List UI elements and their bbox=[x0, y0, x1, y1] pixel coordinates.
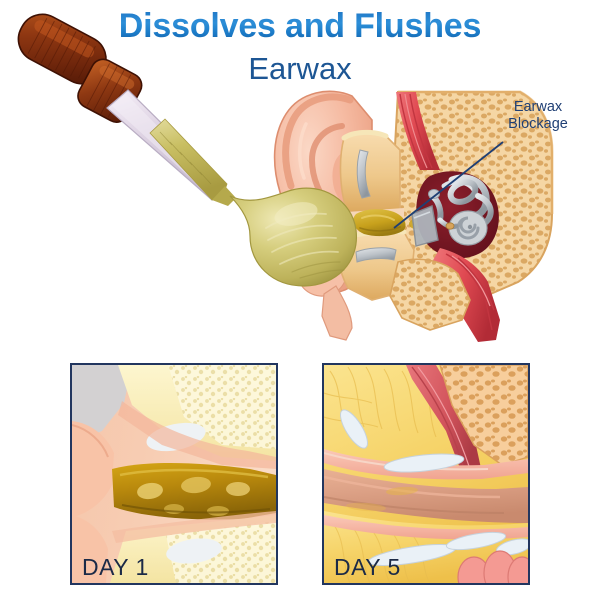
panel-day5: DAY 5 bbox=[322, 363, 530, 585]
infographic-canvas: Dissolves and Flushes Earwax Earwax Bloc… bbox=[0, 0, 600, 600]
page-subtitle: Earwax bbox=[0, 50, 600, 88]
panel-day1-label: DAY 1 bbox=[82, 554, 149, 581]
dropper-pipette bbox=[107, 90, 236, 206]
earwax-drop bbox=[230, 188, 356, 286]
callout-line-1: Earwax bbox=[482, 99, 594, 116]
panel-day5-label: DAY 5 bbox=[334, 554, 401, 581]
wax-blockage-day1 bbox=[112, 463, 276, 520]
jaw-skin bbox=[322, 286, 352, 340]
callout-line-2: Blockage bbox=[482, 116, 594, 133]
earwax-blockage-callout: Earwax Blockage bbox=[482, 99, 594, 133]
page-title: Dissolves and Flushes bbox=[0, 6, 600, 46]
panel-day1: DAY 1 bbox=[70, 363, 278, 585]
